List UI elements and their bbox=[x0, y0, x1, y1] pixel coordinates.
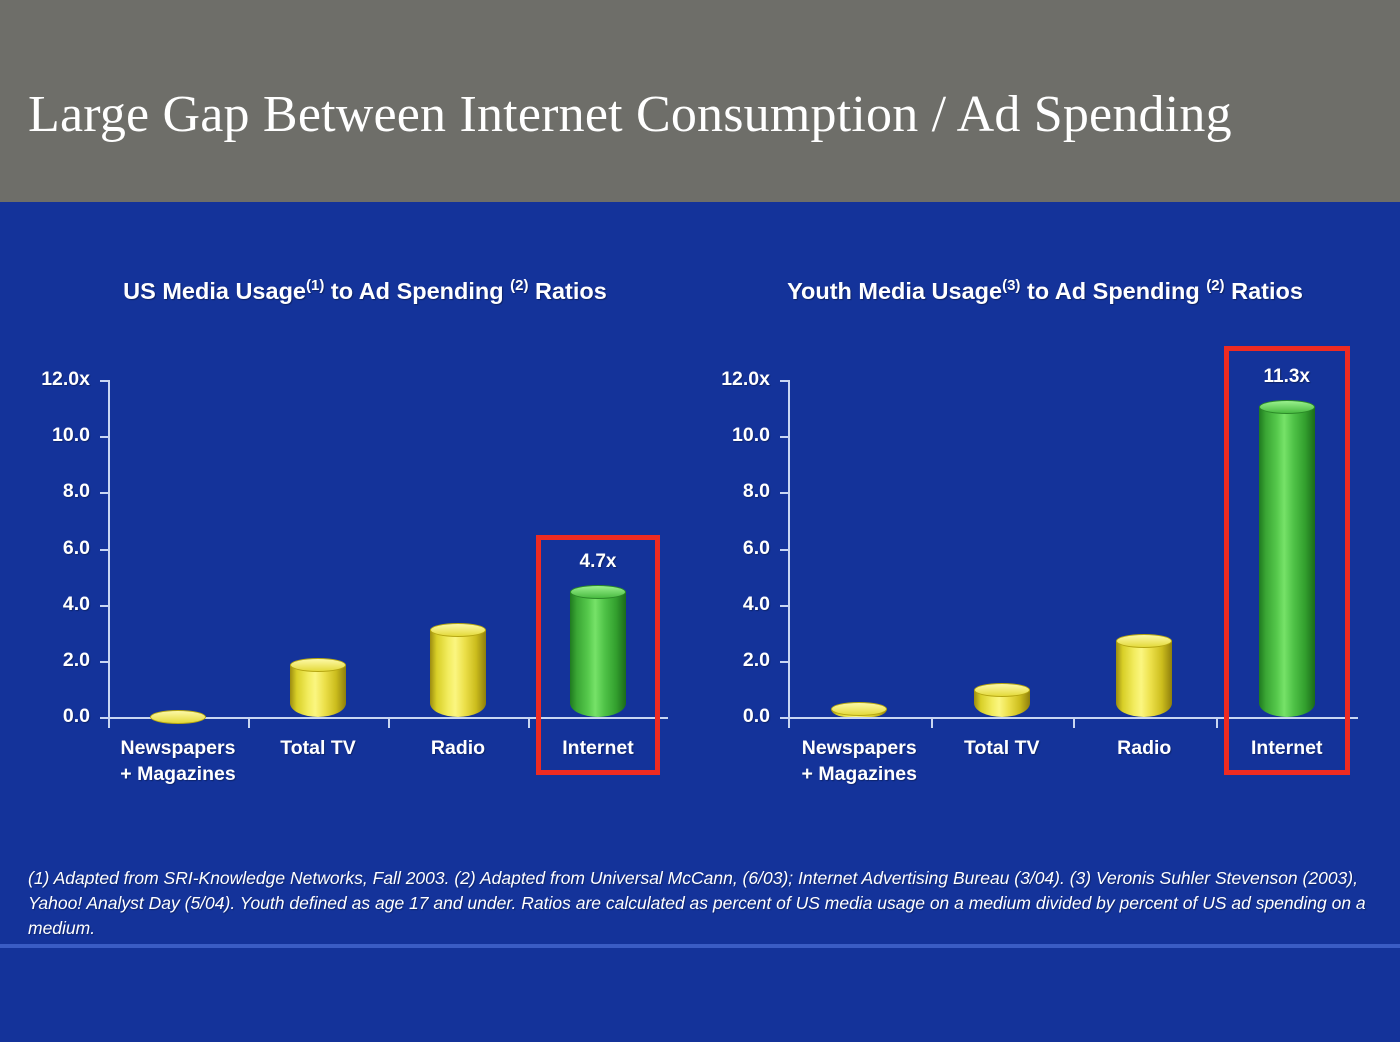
category-label-line: Newspapers bbox=[788, 735, 931, 761]
category-label-line: Total TV bbox=[248, 735, 388, 761]
y-axis-tick-label: 10.0 bbox=[692, 424, 770, 447]
chart-panel-youth-media-usage: Youth Media Usage(3) to Ad Spending (2) … bbox=[700, 268, 1390, 828]
page-title: Large Gap Between Internet Consumption /… bbox=[28, 88, 1380, 143]
category-label-line: Radio bbox=[1073, 735, 1216, 761]
category-label-line: Newspapers bbox=[108, 735, 248, 761]
y-axis-tick bbox=[100, 492, 109, 494]
y-axis-tick-label: 4.0 bbox=[692, 593, 770, 616]
x-axis-tick bbox=[248, 719, 250, 728]
y-axis-tick bbox=[780, 605, 789, 607]
x-axis-category-label: Radio bbox=[1073, 735, 1216, 761]
y-axis-tick bbox=[100, 436, 109, 438]
x-axis-category-label: Total TV bbox=[248, 735, 388, 761]
y-axis-tick bbox=[780, 549, 789, 551]
y-axis-tick-label: 2.0 bbox=[12, 649, 90, 672]
x-axis-category-label: Newspapers+ Magazines bbox=[108, 735, 248, 787]
y-axis-tick-label: 12.0x bbox=[692, 368, 770, 391]
footnote-text: (1) Adapted from SRI-Knowledge Networks,… bbox=[28, 866, 1376, 941]
y-axis-tick bbox=[780, 661, 789, 663]
y-axis-tick bbox=[780, 436, 789, 438]
category-label-line: Total TV bbox=[931, 735, 1074, 761]
category-label-line: + Magazines bbox=[108, 761, 248, 787]
x-axis-tick bbox=[388, 719, 390, 728]
y-axis-tick-label: 0.0 bbox=[692, 705, 770, 728]
highlight-box-internet bbox=[1224, 346, 1351, 775]
bar-radio bbox=[430, 623, 486, 717]
x-axis-category-label: Newspapers+ Magazines bbox=[788, 735, 931, 787]
bar-total-tv bbox=[974, 683, 1030, 717]
bar-total-tv bbox=[290, 658, 346, 717]
y-axis-tick-label: 4.0 bbox=[12, 593, 90, 616]
plot-area-youth: 12.0x10.08.06.04.02.00.0Newspapers+ Maga… bbox=[700, 268, 1390, 828]
x-axis-category-label: Radio bbox=[388, 735, 528, 761]
y-axis-tick bbox=[780, 380, 789, 382]
x-axis-tick bbox=[931, 719, 933, 728]
y-axis-tick-label: 6.0 bbox=[692, 537, 770, 560]
y-axis-tick bbox=[100, 549, 109, 551]
x-axis-tick bbox=[788, 719, 790, 728]
y-axis-tick-label: 12.0x bbox=[12, 368, 90, 391]
y-axis-tick-label: 10.0 bbox=[12, 424, 90, 447]
y-axis-tick bbox=[100, 661, 109, 663]
bar-newspapers-magazines bbox=[831, 702, 887, 717]
category-label-line: + Magazines bbox=[788, 761, 931, 787]
bar-radio bbox=[1116, 634, 1172, 717]
y-axis-tick bbox=[780, 492, 789, 494]
footer: MorganStanley 43 Yourseeker bbox=[0, 948, 1400, 1042]
x-axis-tick bbox=[108, 719, 110, 728]
x-axis-tick bbox=[1073, 719, 1075, 728]
y-axis-tick bbox=[100, 605, 109, 607]
x-axis-category-label: Total TV bbox=[931, 735, 1074, 761]
highlight-box-internet bbox=[536, 535, 660, 775]
y-axis-tick bbox=[100, 380, 109, 382]
bar-newspapers-magazines bbox=[150, 710, 206, 717]
y-axis-tick-label: 2.0 bbox=[692, 649, 770, 672]
x-axis-tick bbox=[1216, 719, 1218, 728]
plot-area-us: 12.0x10.08.06.04.02.00.0Newspapers+ Maga… bbox=[10, 268, 700, 828]
y-axis-tick-label: 8.0 bbox=[12, 480, 90, 503]
y-axis-tick-label: 8.0 bbox=[692, 480, 770, 503]
x-axis-tick bbox=[528, 719, 530, 728]
y-axis-tick-label: 6.0 bbox=[12, 537, 90, 560]
slide: Large Gap Between Internet Consumption /… bbox=[0, 0, 1400, 1042]
category-label-line: Radio bbox=[388, 735, 528, 761]
chart-panel-us-media-usage: US Media Usage(1) to Ad Spending (2) Rat… bbox=[10, 268, 700, 828]
y-axis-tick-label: 0.0 bbox=[12, 705, 90, 728]
